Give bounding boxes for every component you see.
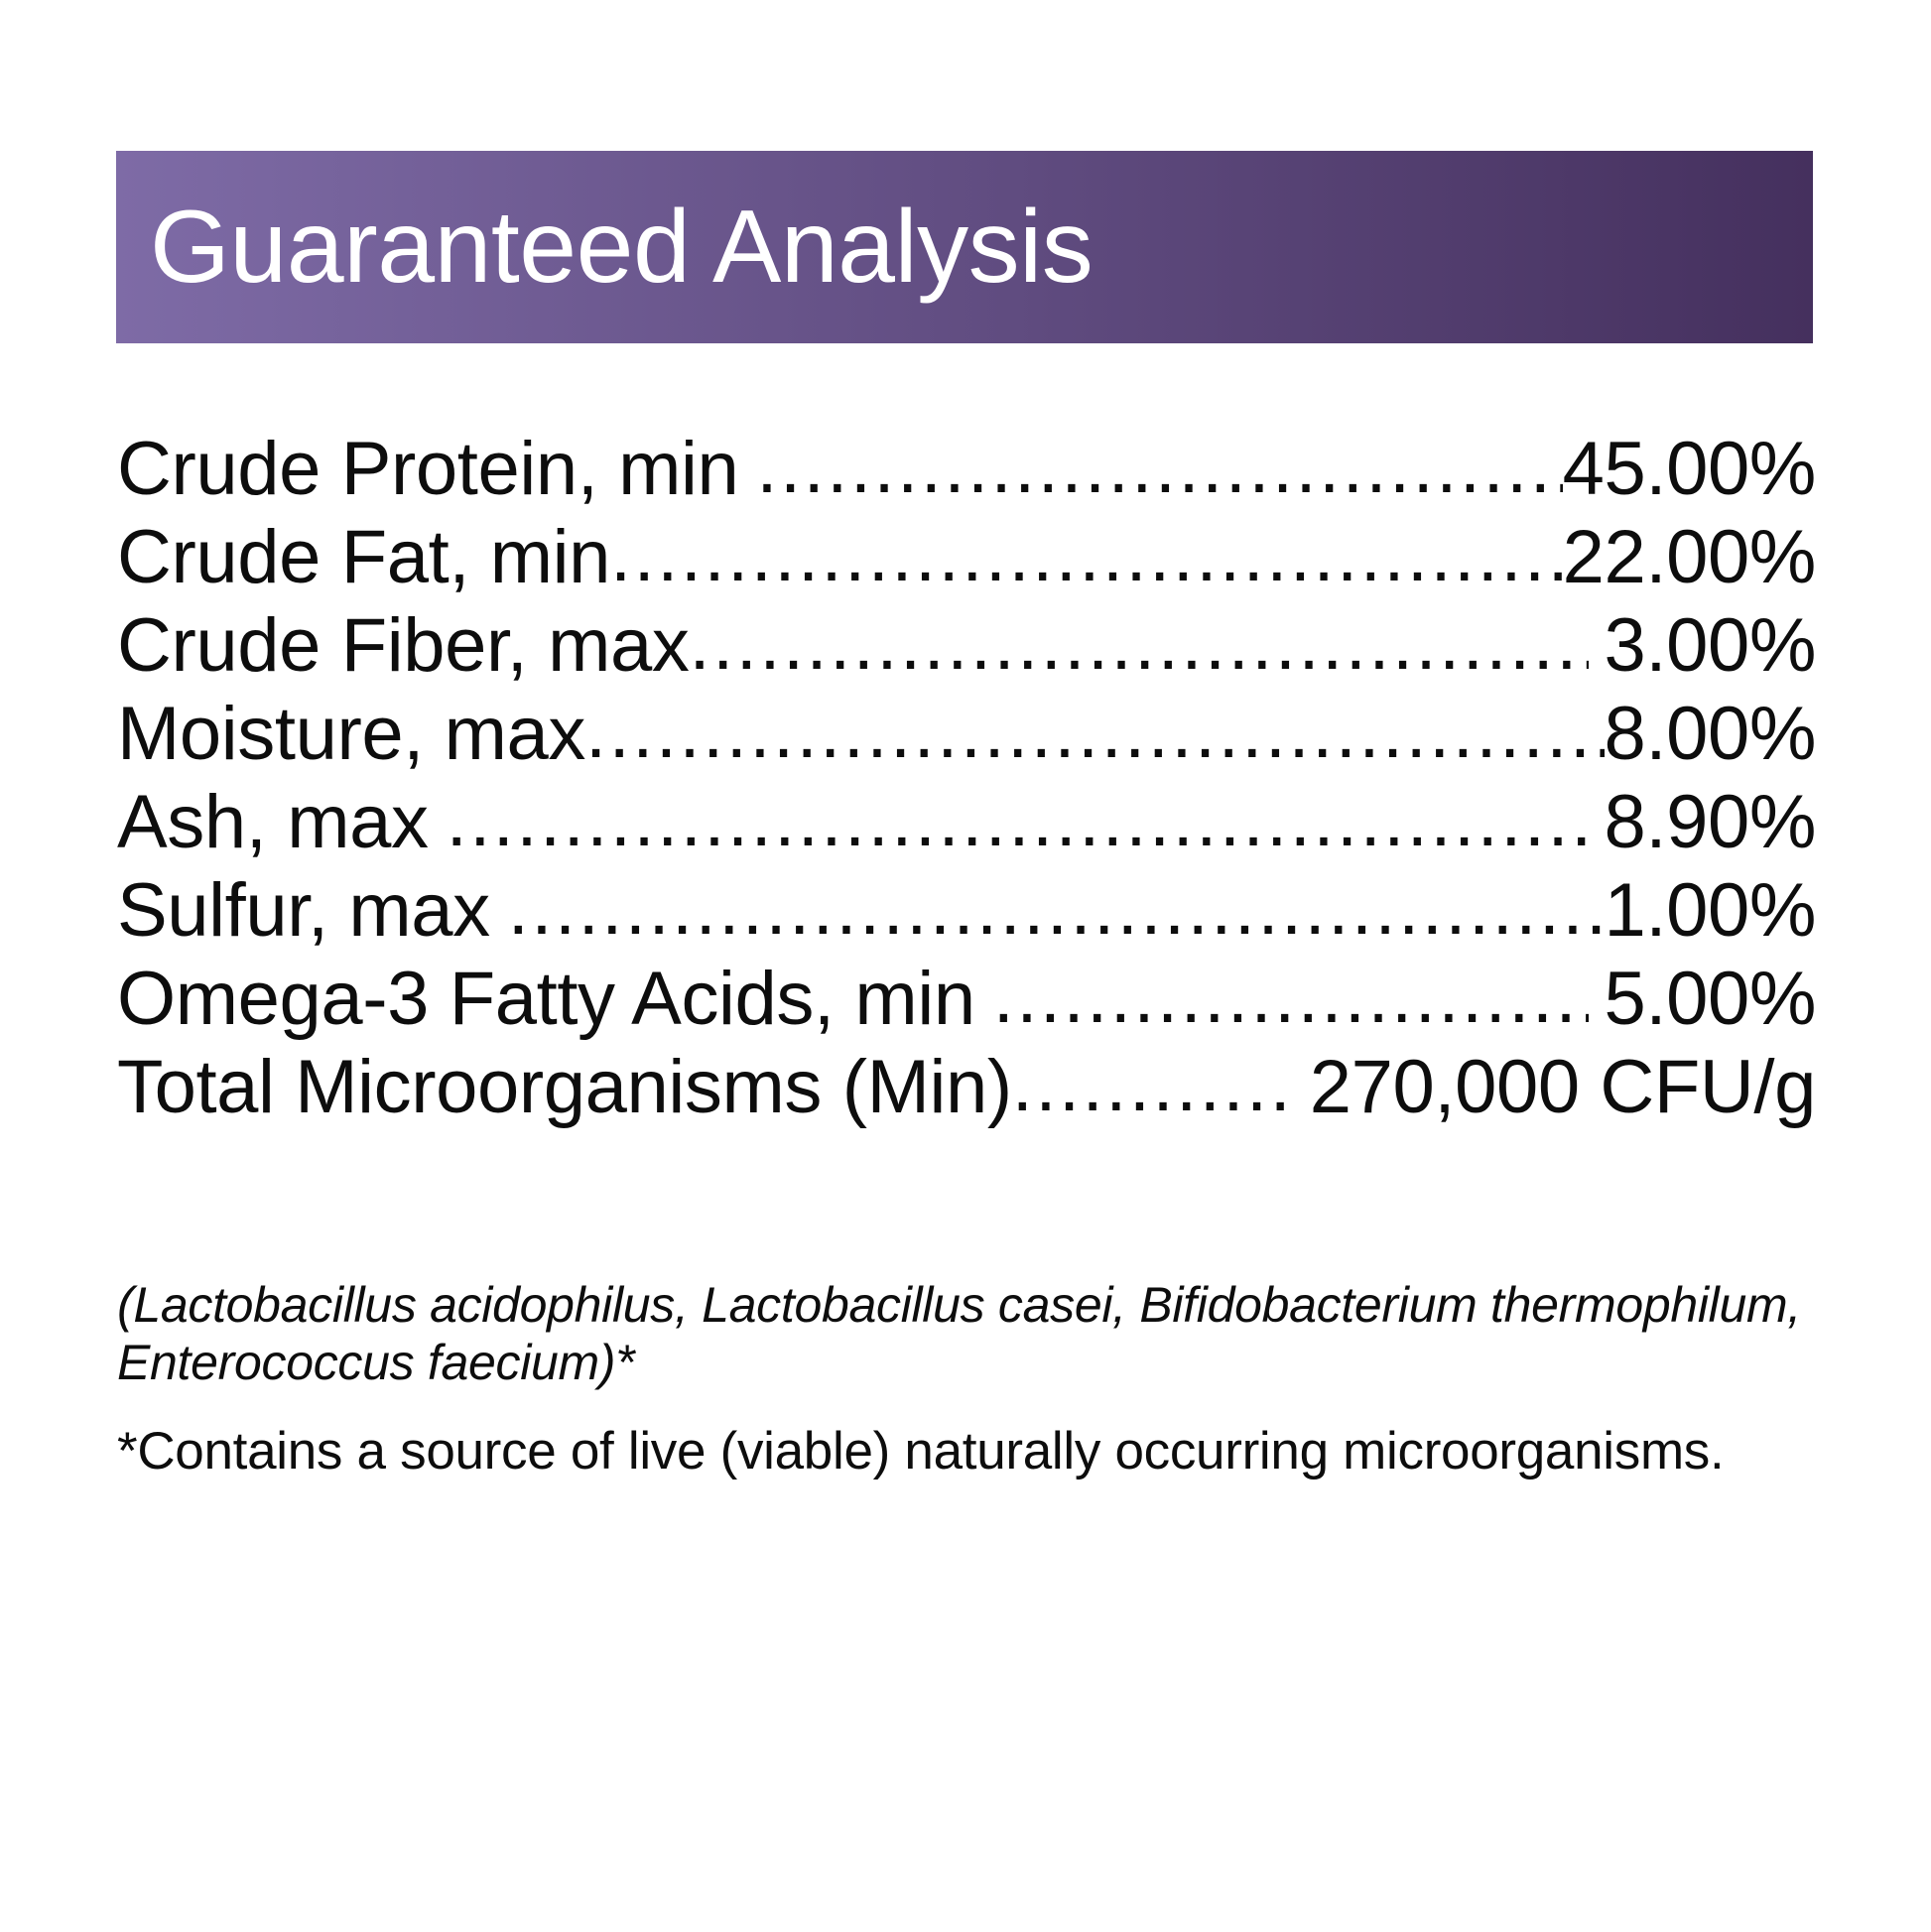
guaranteed-analysis-panel: Guaranteed Analysis Crude Protein, min 4… bbox=[0, 0, 1931, 1932]
analysis-row: Total Microorganisms (Min) 270,000 CFU/g bbox=[117, 1043, 1816, 1131]
analysis-row: Crude Fiber, max 3.00% bbox=[117, 601, 1816, 690]
analysis-row-value: 1.00% bbox=[1605, 866, 1817, 955]
leader-dots bbox=[993, 955, 1589, 1041]
analysis-row-label: Sulfur, max bbox=[117, 866, 508, 955]
leader-dots bbox=[1012, 1043, 1294, 1129]
analysis-row-label: Crude Fiber, max bbox=[117, 601, 689, 690]
leader-dots bbox=[756, 425, 1562, 511]
analysis-row: Omega-3 Fatty Acids, min 5.00% bbox=[117, 955, 1816, 1043]
analysis-row: Crude Protein, min 45.00% bbox=[117, 425, 1816, 513]
analysis-row-value: 8.90% bbox=[1589, 778, 1817, 866]
analysis-row-label: Total Microorganisms (Min) bbox=[117, 1043, 1012, 1131]
footnote: *Contains a source of live (viable) natu… bbox=[117, 1421, 1816, 1482]
analysis-row-label: Moisture, max bbox=[117, 690, 585, 778]
leader-dots bbox=[610, 513, 1563, 599]
analysis-row-label: Ash, max bbox=[117, 778, 447, 866]
analysis-row-value: 5.00% bbox=[1589, 955, 1817, 1043]
analysis-row: Moisture, max 8.00% bbox=[117, 690, 1816, 778]
organism-note-line-1: (Lactobacillus acidophilus, Lactobacillu… bbox=[117, 1276, 1816, 1334]
analysis-row-value: 270,000 CFU/g bbox=[1294, 1043, 1816, 1131]
analysis-row-label: Crude Fat, min bbox=[117, 513, 610, 601]
leader-dots bbox=[508, 866, 1605, 953]
leader-dots bbox=[585, 690, 1604, 776]
page-title: Guaranteed Analysis bbox=[116, 195, 1093, 299]
analysis-row-label: Omega-3 Fatty Acids, min bbox=[117, 955, 993, 1043]
leader-dots bbox=[689, 601, 1588, 688]
analysis-row-label: Crude Protein, min bbox=[117, 425, 756, 513]
leader-dots bbox=[447, 778, 1589, 864]
analysis-row: Crude Fat, min 22.00% bbox=[117, 513, 1816, 601]
analysis-row-value: 45.00% bbox=[1563, 425, 1816, 513]
header-banner: Guaranteed Analysis bbox=[116, 151, 1813, 343]
analysis-row-value: 22.00% bbox=[1563, 513, 1816, 601]
analysis-row: Sulfur, max 1.00% bbox=[117, 866, 1816, 955]
analysis-row: Ash, max 8.90% bbox=[117, 778, 1816, 866]
analysis-row-value: 8.00% bbox=[1605, 690, 1817, 778]
analysis-list: Crude Protein, min 45.00% Crude Fat, min… bbox=[117, 425, 1816, 1131]
organism-note-line-2: Enterococcus faecium)* bbox=[117, 1334, 1816, 1391]
analysis-row-value: 3.00% bbox=[1589, 601, 1817, 690]
organism-note: (Lactobacillus acidophilus, Lactobacillu… bbox=[117, 1276, 1816, 1391]
